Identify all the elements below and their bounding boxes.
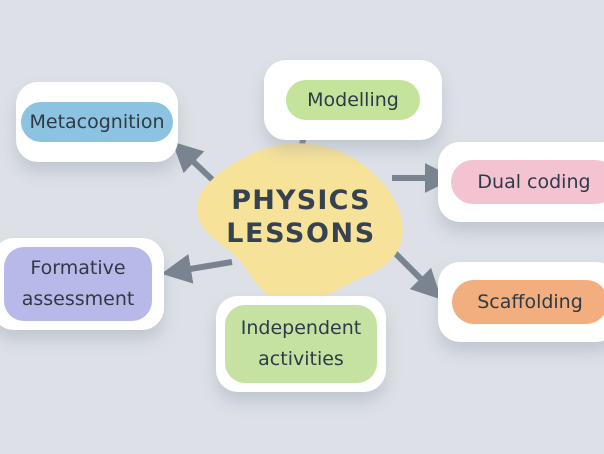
- node-scaffolding-pill: Scaffolding: [452, 280, 604, 324]
- node-formative-assessment[interactable]: Formative assessment: [0, 238, 164, 330]
- node-dual-coding[interactable]: Dual coding: [438, 142, 604, 222]
- node-metacognition[interactable]: Metacognition: [16, 82, 178, 162]
- node-independent-activities[interactable]: Independent activities: [216, 296, 386, 392]
- node-scaffolding-label: Scaffolding: [477, 290, 583, 315]
- center-label-line2: LESSONS: [206, 217, 396, 250]
- node-formative-assessment-label-line2: assessment: [22, 284, 135, 315]
- node-independent-activities-pill: Independent activities: [225, 305, 377, 383]
- node-modelling[interactable]: Modelling: [264, 60, 442, 140]
- node-scaffolding[interactable]: Scaffolding: [438, 262, 604, 342]
- mind-map-canvas: PHYSICS LESSONS Metacognition Modelling …: [0, 0, 604, 454]
- node-dual-coding-label: Dual coding: [477, 170, 590, 195]
- center-label-line1: PHYSICS: [206, 184, 396, 217]
- node-modelling-pill: Modelling: [286, 80, 420, 120]
- node-dual-coding-pill: Dual coding: [451, 160, 604, 204]
- node-metacognition-label: Metacognition: [29, 110, 164, 135]
- node-formative-assessment-pill: Formative assessment: [4, 247, 152, 321]
- center-label: PHYSICS LESSONS: [206, 184, 396, 250]
- node-metacognition-pill: Metacognition: [21, 102, 173, 142]
- node-modelling-label: Modelling: [307, 88, 399, 113]
- node-independent-activities-label-line2: activities: [258, 344, 344, 375]
- node-independent-activities-label-line1: Independent: [241, 313, 361, 344]
- node-formative-assessment-label-line1: Formative: [30, 253, 125, 284]
